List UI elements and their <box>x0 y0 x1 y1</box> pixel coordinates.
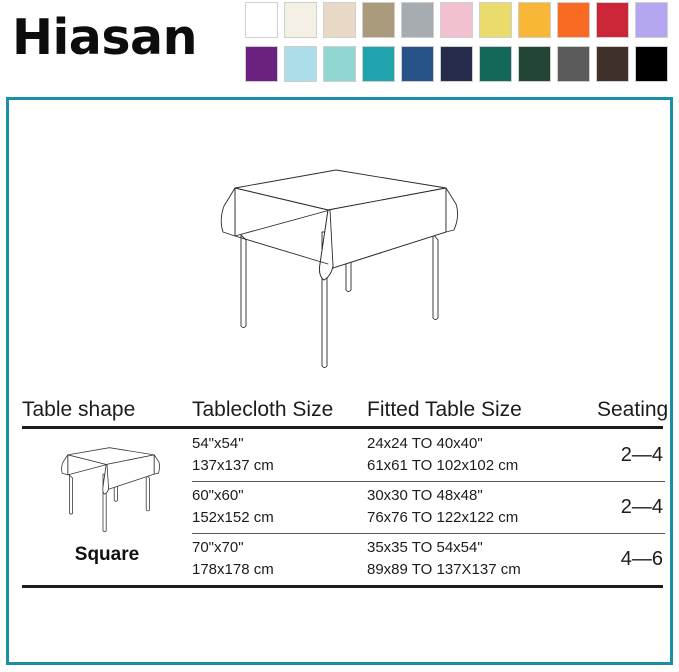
shape-label: Square <box>75 544 139 566</box>
fitted-size-cm: 76x76 TO 122x122 cm <box>367 508 597 528</box>
color-swatch-aqua[interactable] <box>323 46 356 82</box>
column-header-seating: Seating <box>597 398 663 422</box>
page-header: Hiasan <box>0 0 679 90</box>
seating-cell: 4—6 <box>597 548 665 571</box>
tablecloth-size-cell: 54"x54" 137x137 cm <box>192 434 367 476</box>
color-swatch-denim-blue[interactable] <box>401 46 434 82</box>
column-header-table-shape: Table shape <box>22 398 192 422</box>
column-header-tablecloth-size: Tablecloth Size <box>192 398 367 422</box>
color-swatch-brown[interactable] <box>596 46 629 82</box>
tablecloth-size-inches: 60"x60" <box>192 486 367 506</box>
tablecloth-size-cm: 152x152 cm <box>192 508 367 528</box>
color-swatch-pink[interactable] <box>440 2 473 38</box>
table-row: 54"x54" 137x137 cm 24x24 TO 40x40" 61x61… <box>192 429 665 481</box>
color-swatch-light-blue[interactable] <box>284 46 317 82</box>
tablecloth-size-inches: 70"x70" <box>192 538 367 558</box>
fitted-size-inches: 24x24 TO 40x40" <box>367 434 597 454</box>
color-swatch-dark-green[interactable] <box>518 46 551 82</box>
fitted-size-cm: 61x61 TO 102x102 cm <box>367 456 597 476</box>
color-swatch-navy[interactable] <box>440 46 473 82</box>
tablecloth-size-inches: 54"x54" <box>192 434 367 454</box>
color-swatch-beige[interactable] <box>323 2 356 38</box>
tablecloth-size-cm: 178x178 cm <box>192 560 367 580</box>
tablecloth-size-cell: 60"x60" 152x152 cm <box>192 486 367 528</box>
square-table-illustration <box>14 155 665 380</box>
spec-table-header-row: Table shape Tablecloth Size Fitted Table… <box>22 388 663 422</box>
seating-cell: 2—4 <box>597 444 665 467</box>
table-row: 60"x60" 152x152 cm 30x30 TO 48x48" 76x76… <box>192 481 665 533</box>
spec-table-body: Square 54"x54" 137x137 cm 24x24 TO 40x40… <box>22 429 663 585</box>
spec-table: Table shape Tablecloth Size Fitted Table… <box>22 388 663 588</box>
color-swatch-red[interactable] <box>596 2 629 38</box>
fitted-size-cm: 89x89 TO 137X137 cm <box>367 560 597 580</box>
square-table-with-draped-tablecloth-illustration <box>190 158 490 378</box>
color-swatch-black[interactable] <box>635 46 668 82</box>
spec-rows-container: 54"x54" 137x137 cm 24x24 TO 40x40" 61x61… <box>192 429 665 585</box>
color-swatch-teal[interactable] <box>362 46 395 82</box>
color-swatch-ivory[interactable] <box>284 2 317 38</box>
color-swatch-silver-gray[interactable] <box>401 2 434 38</box>
color-swatch-gold[interactable] <box>518 2 551 38</box>
fitted-size-cell: 30x30 TO 48x48" 76x76 TO 122x122 cm <box>367 486 597 528</box>
content-frame: Table shape Tablecloth Size Fitted Table… <box>6 97 673 665</box>
color-swatch-white[interactable] <box>245 2 278 38</box>
table-row: 70"x70" 178x178 cm 35x35 TO 54x54" 89x89… <box>192 533 665 585</box>
brand-logo: Hiasan <box>12 8 197 68</box>
table-bottom-divider <box>22 585 663 588</box>
square-table-with-tablecloth-icon <box>47 441 167 536</box>
color-swatch-emerald[interactable] <box>479 46 512 82</box>
tablecloth-size-cm: 137x137 cm <box>192 456 367 476</box>
color-swatch-dark-gray[interactable] <box>557 46 590 82</box>
shape-cell: Square <box>22 429 192 585</box>
color-swatch-panel <box>245 2 675 84</box>
tablecloth-size-cell: 70"x70" 178x178 cm <box>192 538 367 580</box>
content-inner: Table shape Tablecloth Size Fitted Table… <box>13 104 666 658</box>
column-header-fitted-table-size: Fitted Table Size <box>367 398 597 422</box>
swatch-row-1 <box>245 2 675 38</box>
color-swatch-orange[interactable] <box>557 2 590 38</box>
fitted-size-cell: 24x24 TO 40x40" 61x61 TO 102x102 cm <box>367 434 597 476</box>
swatch-row-2 <box>245 46 675 82</box>
color-swatch-khaki[interactable] <box>362 2 395 38</box>
color-swatch-purple[interactable] <box>245 46 278 82</box>
fitted-size-cell: 35x35 TO 54x54" 89x89 TO 137X137 cm <box>367 538 597 580</box>
fitted-size-inches: 30x30 TO 48x48" <box>367 486 597 506</box>
fitted-size-inches: 35x35 TO 54x54" <box>367 538 597 558</box>
seating-cell: 2—4 <box>597 496 665 519</box>
color-swatch-light-yellow[interactable] <box>479 2 512 38</box>
color-swatch-lavender[interactable] <box>635 2 668 38</box>
